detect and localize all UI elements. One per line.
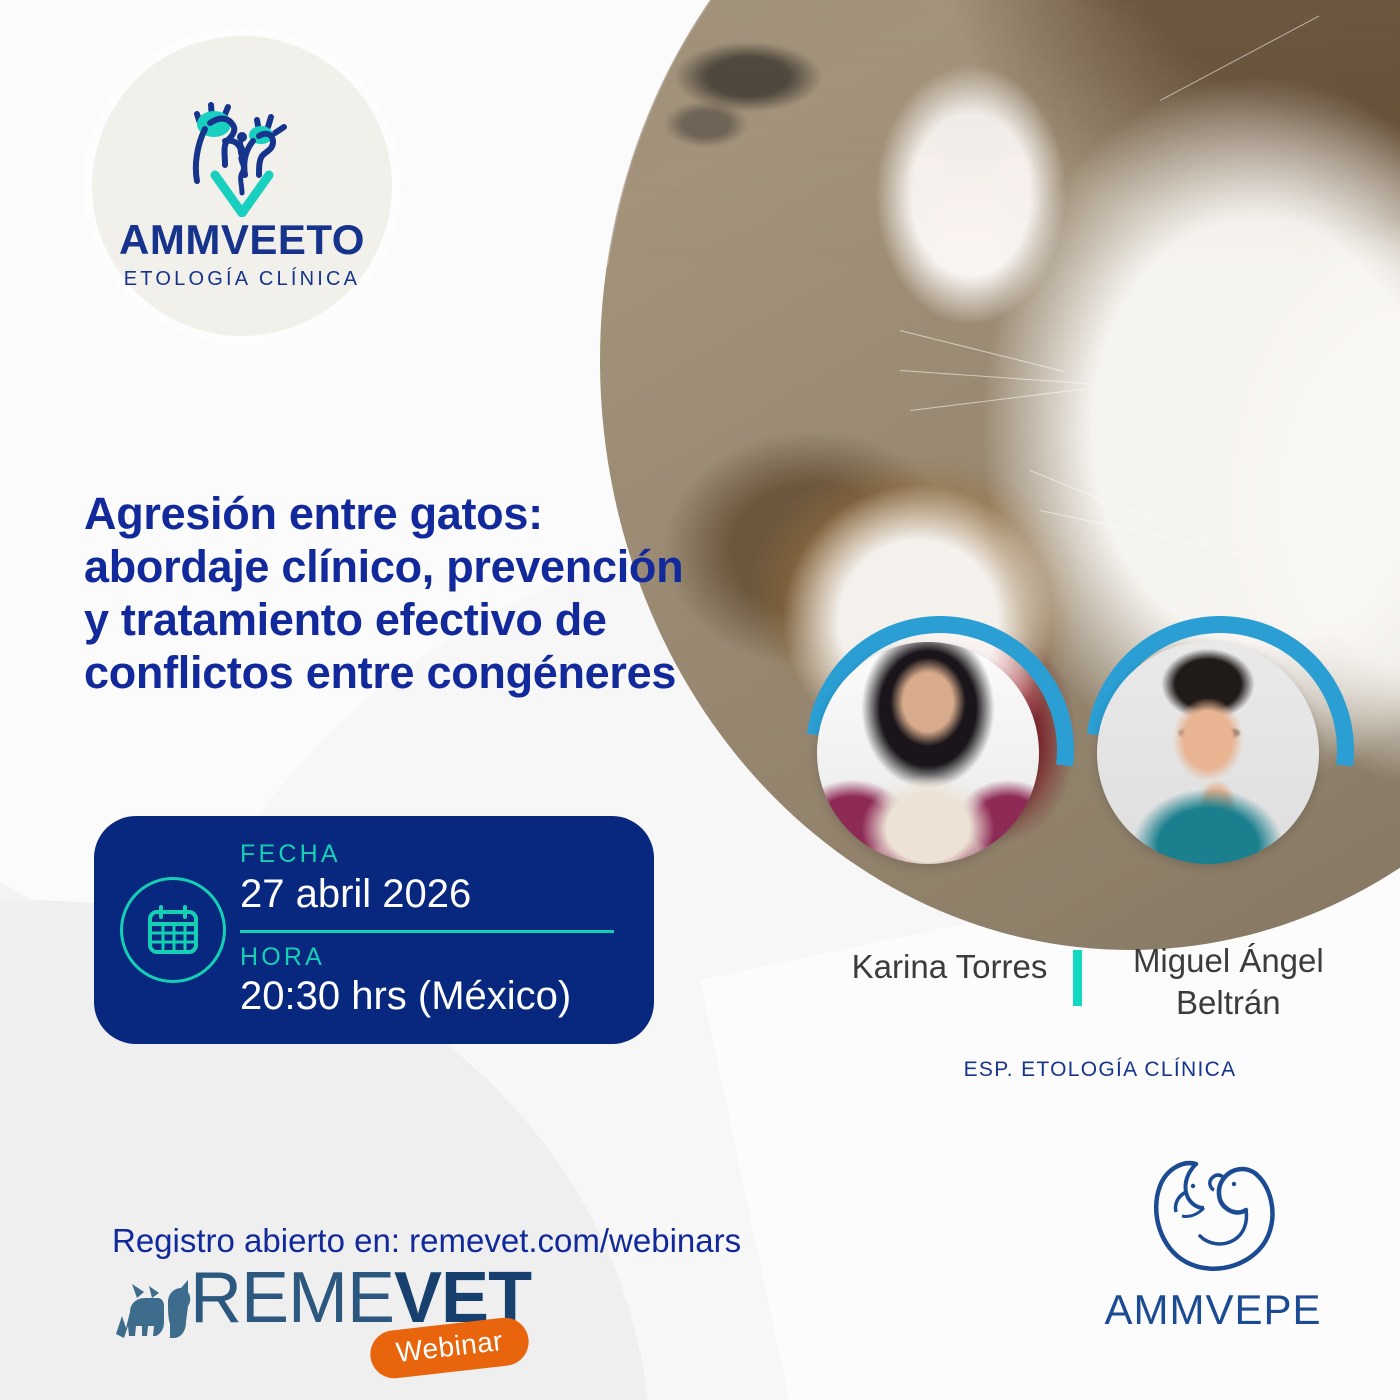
time-label: HORA [240,942,614,973]
ammveeto-logo: AMMVEETO ETOLOGÍA CLÍNICA [92,36,392,336]
avatar-photo [1097,642,1319,864]
registration-text: Registro abierto en: remevet.com/webinar… [112,1222,741,1260]
title-line-4: conflictos entre congéneres [84,646,764,699]
title-line-3: y tratamiento efectivo de [84,593,764,646]
title-line-2: abordaje clínico, prevención [84,540,764,593]
date-label: FECHA [240,839,614,870]
speaker-name-1: Karina Torres [852,940,1048,988]
page-title: Agresión entre gatos: abordaje clínico, … [84,487,764,699]
date-value: 27 abril 2026 [240,870,614,919]
speakers-names: Karina Torres Miguel Ángel Beltrán [810,940,1390,1024]
remevet-logo: REMEVET Webinar [112,1262,632,1372]
avatar-karina-torres [806,616,1074,884]
calendar-icon [120,877,226,983]
ammveeto-logo-mark [167,89,317,217]
remevet-reme: REME [190,1258,394,1338]
calendar-icon-glyph [143,900,203,960]
ammvepe-logo-mark [1138,1152,1288,1274]
speaker-name-2: Miguel Ángel Beltrán [1108,940,1348,1024]
dog-cat-silhouette-icon [112,1276,194,1346]
speaker-divider [1073,950,1082,1006]
time-value: 20:30 hrs (México) [240,972,614,1021]
speakers-role: ESP. ETOLOGÍA CLÍNICA [810,1058,1390,1082]
avatar-miguel-angel-beltran [1086,616,1354,884]
schedule-divider [240,930,614,933]
schedule-body: FECHA 27 abril 2026 HORA 20:30 hrs (Méxi… [240,839,654,1020]
ammvepe-logo: AMMVEPE [1078,1152,1348,1357]
title-line-1: Agresión entre gatos: [84,487,764,540]
webinar-poster: AMMVEETO ETOLOGÍA CLÍNICA Agresión entre… [0,0,1400,1400]
avatar-photo [817,642,1039,864]
ammvepe-wordmark: AMMVEPE [1104,1286,1321,1334]
ammveeto-logo-subtitle: ETOLOGÍA CLÍNICA [124,268,360,291]
hero-photo-blur [600,0,1400,266]
schedule-card: FECHA 27 abril 2026 HORA 20:30 hrs (Méxi… [94,816,654,1044]
ammveeto-logo-name: AMMVEETO [119,219,365,261]
